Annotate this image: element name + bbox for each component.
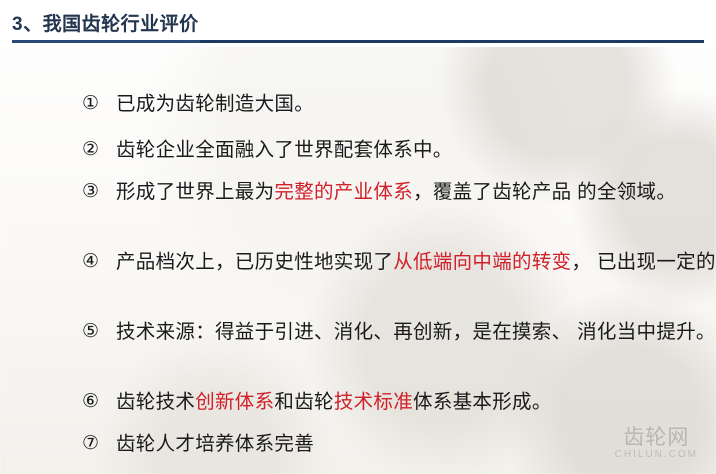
list-item: ⑦ 齿轮人才培养体系完善: [82, 427, 314, 461]
list-marker: ③: [82, 175, 116, 209]
text-line: 已出现一定的高端产品。: [597, 251, 716, 273]
list-item: ④ 产品档次上，已历史性地实现了从低端向中端的转变， 已出现一定的高端产品。: [82, 245, 716, 279]
page-title: 3、我国齿轮行业评价: [12, 9, 199, 36]
list-item-text: 形成了世界上最为完整的产业体系，覆盖了齿轮产品 的全领域。: [116, 175, 676, 209]
text-line: 齿轮人才培养体系完善: [116, 433, 314, 455]
text-run: ，: [571, 251, 591, 273]
text-run: 已出现一定的高端产品。: [597, 251, 716, 273]
list-item: ⑥ 齿轮技术创新体系和齿轮技术标准体系基本形成。: [82, 385, 552, 419]
list-item: ② 齿轮企业全面融入了世界配套体系中。: [82, 133, 453, 167]
bullet-list: ① 已成为齿轮制造大国。 ② 齿轮企业全面融入了世界配套体系中。 ③ 形成了世界…: [0, 47, 716, 474]
text-run: 齿轮人才培养体系完善: [116, 433, 314, 455]
list-item-text: 齿轮企业全面融入了世界配套体系中。: [116, 133, 453, 167]
text-run: ，覆盖了齿轮产品: [413, 181, 571, 203]
list-marker: ⑥: [82, 385, 116, 419]
text-line: 齿轮技术创新体系和齿轮技术标准体系基本形成。: [116, 391, 552, 413]
list-marker: ②: [82, 133, 116, 167]
highlight-run: 从低端向中端的转变: [393, 251, 571, 273]
text-run: 技术来源：得益于引进、消化、再创新，是在摸索、: [116, 321, 571, 343]
slide-header: 3、我国齿轮行业评价: [0, 0, 716, 47]
text-run: 齿轮企业全面融入了世界配套体系中。: [116, 139, 453, 161]
text-line: 齿轮企业全面融入了世界配套体系中。: [116, 139, 453, 161]
text-run: 齿轮技术: [116, 391, 195, 413]
list-item-text: 产品档次上，已历史性地实现了从低端向中端的转变， 已出现一定的高端产品。: [116, 245, 716, 279]
text-line: 已成为齿轮制造大国。: [116, 93, 314, 115]
text-run: 产品档次上，已历史性地实现了: [116, 251, 393, 273]
highlight-run: 完整的产业体系: [274, 181, 413, 203]
list-item: ③ 形成了世界上最为完整的产业体系，覆盖了齿轮产品 的全领域。: [82, 175, 676, 209]
list-item: ① 已成为齿轮制造大国。: [82, 87, 314, 121]
list-marker: ⑤: [82, 315, 116, 349]
list-item-text: 已成为齿轮制造大国。: [116, 87, 314, 121]
text-line: 的全领域。: [577, 181, 676, 203]
list-marker: ⑦: [82, 427, 116, 461]
text-run: 的全领域。: [577, 181, 676, 203]
text-run: 消化当中提升。: [577, 321, 716, 343]
list-item: ⑤ 技术来源：得益于引进、消化、再创新，是在摸索、 消化当中提升。: [82, 315, 716, 349]
slide-root: 3、我国齿轮行业评价 ① 已成为齿轮制造大国。 ② 齿轮企业全面融入了世界配套体…: [0, 0, 716, 474]
text-run: 形成了世界上最为: [116, 181, 274, 203]
list-item-text: 齿轮人才培养体系完善: [116, 427, 314, 461]
list-item-text: 齿轮技术创新体系和齿轮技术标准体系基本形成。: [116, 385, 552, 419]
text-line: 产品档次上，已历史性地实现了从低端向中端的转变，: [116, 251, 591, 273]
text-line: 消化当中提升。: [577, 321, 716, 343]
text-run: 体系基本形成。: [413, 391, 552, 413]
list-marker: ④: [82, 245, 116, 279]
highlight-run: 创新体系: [195, 391, 274, 413]
list-marker: ①: [82, 87, 116, 121]
text-line: 技术来源：得益于引进、消化、再创新，是在摸索、: [116, 321, 571, 343]
text-run: 已成为齿轮制造大国。: [116, 93, 314, 115]
list-item-text: 技术来源：得益于引进、消化、再创新，是在摸索、 消化当中提升。: [116, 315, 716, 349]
text-line: 形成了世界上最为完整的产业体系，覆盖了齿轮产品: [116, 181, 571, 203]
header-divider-accent: [12, 40, 200, 43]
text-run: 和齿轮: [274, 391, 333, 413]
highlight-run: 技术标准: [334, 391, 413, 413]
